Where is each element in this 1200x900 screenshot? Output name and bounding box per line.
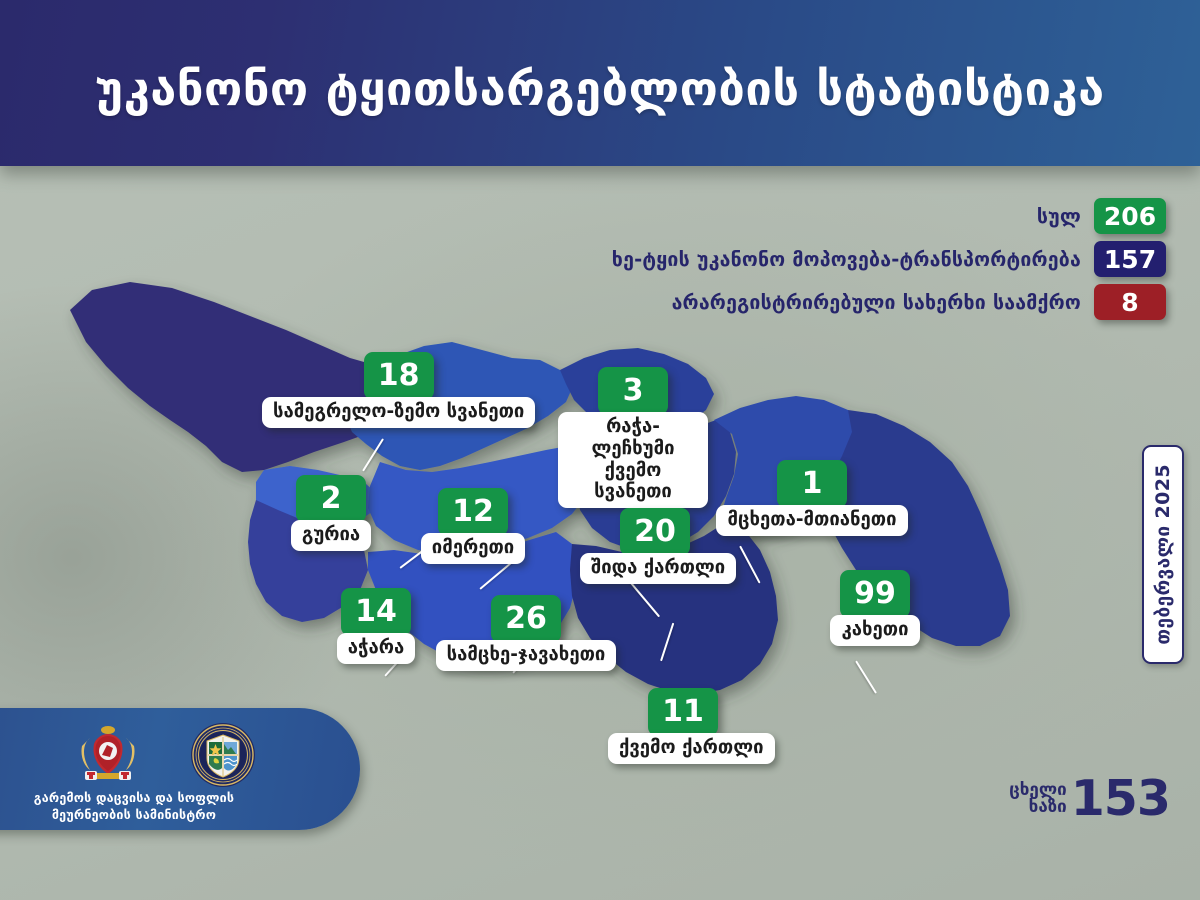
marker-samegrelo: 18 სამეგრელო-ზემო სვანეთი [262,352,535,428]
legend-label-transport: ხე-ტყის უკანონო მოპოვება-ტრანსპორტირება [612,248,1081,271]
region-label-shida[interactable]: შიდა ქართლი [580,553,736,584]
value-chip-imereti[interactable]: 12 [438,488,508,536]
hotline-number: 153 [1071,778,1170,820]
legend-row-unregistered: არარეგისტრირებული სახერხი საამქრო 8 [612,283,1166,321]
region-label-imereti[interactable]: იმერეთი [421,533,525,564]
date-tab[interactable]: თებერვალი 2025 [1142,445,1184,664]
value-chip-racha[interactable]: 3 [598,367,668,415]
infographic-root: უკანონო ტყითსარგებლობის სტატისტიკა სულ 2… [0,0,1200,900]
legend-label-total: სულ [1037,205,1081,228]
legend-row-total: სულ 206 [612,197,1166,235]
ministry-name-line1: გარემოს დაცვისა და სოფლის [4,790,264,807]
legend-row-transport: ხე-ტყის უკანონო მოპოვება-ტრანსპორტირება … [612,240,1166,278]
region-label-samegrelo[interactable]: სამეგრელო-ზემო სვანეთი [262,397,535,428]
value-chip-shida[interactable]: 20 [620,508,690,556]
marker-kvemo: 11 ქვემო ქართლი [608,688,758,764]
value-chip-kakheti[interactable]: 99 [840,570,910,618]
legend: სულ 206 ხე-ტყის უკანონო მოპოვება-ტრანსპო… [612,197,1166,326]
legend-label-unregistered: არარეგისტრირებული სახერხი საამქრო [672,291,1081,314]
region-label-samtskhe[interactable]: სამცხე-ჯავახეთი [436,640,617,671]
ministry-footer: გარემოს დაცვისა და სოფლის მეურნეობის სამ… [0,708,360,830]
header-banner: უკანონო ტყითსარგებლობის სტატისტიკა [0,0,1200,166]
region-label-racha-line2: ქვემო სვანეთი [594,460,672,503]
marker-shida: 20 შიდა ქართლი [580,508,730,584]
region-label-guria[interactable]: გურია [291,520,371,551]
hotline: ცხელი ხაზი 153 [1009,778,1170,820]
marker-racha: 3 რაჭა-ლეჩხუმიქვემო სვანეთი [558,367,708,508]
value-chip-samegrelo[interactable]: 18 [364,352,434,400]
marker-samtskhe: 26 სამცხე-ჯავახეთი [432,595,620,671]
value-chip-guria[interactable]: 2 [296,475,366,523]
region-label-kvemo[interactable]: ქვემო ქართლი [608,733,775,764]
date-tab-label: თებერვალი 2025 [1152,464,1174,645]
ministry-name: გარემოს დაცვისა და სოფლის მეურნეობის სამ… [4,790,264,824]
legend-badge-total: 206 [1094,198,1166,234]
marker-imereti: 12 იმერეთი [418,488,528,564]
page-title: უკანონო ტყითსარგებლობის სტატისტიკა [95,54,1104,113]
value-chip-adjara[interactable]: 14 [341,588,411,636]
marker-guria: 2 გურია [286,475,376,551]
value-chip-mtskheta[interactable]: 1 [777,460,847,508]
region-label-adjara[interactable]: აჭარა [337,633,415,664]
marker-adjara: 14 აჭარა [330,588,422,664]
value-chip-samtskhe[interactable]: 26 [491,595,561,643]
hotline-word-2: ხაზი [1009,799,1067,816]
region-label-racha[interactable]: რაჭა-ლეჩხუმიქვემო სვანეთი [558,412,708,508]
region-label-racha-line1: რაჭა-ლეჩხუმი [591,416,674,459]
ministry-name-line2: მეურნეობის სამინისტრო [4,807,264,824]
marker-mtskheta: 1 მცხეთა-მთიანეთი [712,460,912,536]
legend-badge-transport: 157 [1094,241,1166,277]
georgia-coat-of-arms-icon [80,724,136,782]
region-label-kakheti[interactable]: კახეთი [830,615,919,646]
ministry-seal-icon [190,722,256,788]
region-label-mtskheta[interactable]: მცხეთა-მთიანეთი [716,505,907,536]
marker-kakheti: 99 კახეთი [825,570,925,646]
legend-badge-unregistered: 8 [1094,284,1166,320]
hotline-words: ცხელი ხაზი [1009,782,1067,817]
value-chip-kvemo[interactable]: 11 [648,688,718,736]
